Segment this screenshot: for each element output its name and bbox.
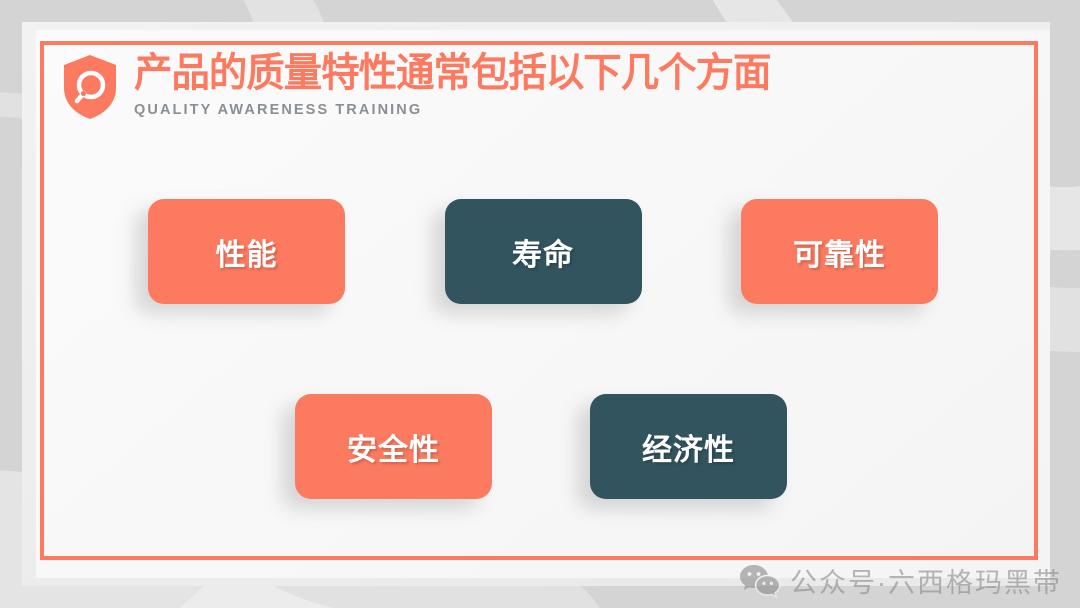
quality-attribute-label: 寿命	[512, 230, 574, 274]
slide-header: 产品的质量特性通常包括以下几个方面 QUALITY AWARENESS TRAI…	[62, 52, 797, 120]
quality-attribute-row-bottom: 安全性 经济性	[295, 394, 787, 499]
quality-attribute-box-economy[interactable]: 经济性	[590, 394, 787, 499]
watermark-text: 公众号·六西格玛黑带	[790, 561, 1062, 600]
page-title: 产品的质量特性通常包括以下几个方面	[134, 52, 770, 95]
quality-attribute-box-safety[interactable]: 安全性	[295, 394, 492, 499]
wechat-icon	[739, 563, 781, 599]
watermark: 公众号·六西格玛黑带	[739, 561, 1062, 600]
quality-attribute-label: 安全性	[347, 425, 440, 469]
shield-quality-icon	[62, 54, 118, 120]
quality-attribute-box-reliability[interactable]: 可靠性	[741, 199, 938, 304]
quality-attribute-label: 经济性	[642, 425, 735, 469]
quality-attribute-box-performance[interactable]: 性能	[148, 199, 345, 304]
slide-canvas: 产品的质量特性通常包括以下几个方面 QUALITY AWARENESS TRAI…	[0, 0, 1080, 608]
quality-attribute-label: 可靠性	[793, 230, 886, 274]
quality-attribute-row-top: 性能 寿命 可靠性	[148, 199, 938, 304]
page-subtitle: QUALITY AWARENESS TRAINING	[134, 102, 797, 118]
quality-attribute-label: 性能	[216, 230, 278, 274]
header-text-group: 产品的质量特性通常包括以下几个方面 QUALITY AWARENESS TRAI…	[134, 52, 797, 118]
quality-attribute-box-lifespan[interactable]: 寿命	[445, 199, 642, 304]
